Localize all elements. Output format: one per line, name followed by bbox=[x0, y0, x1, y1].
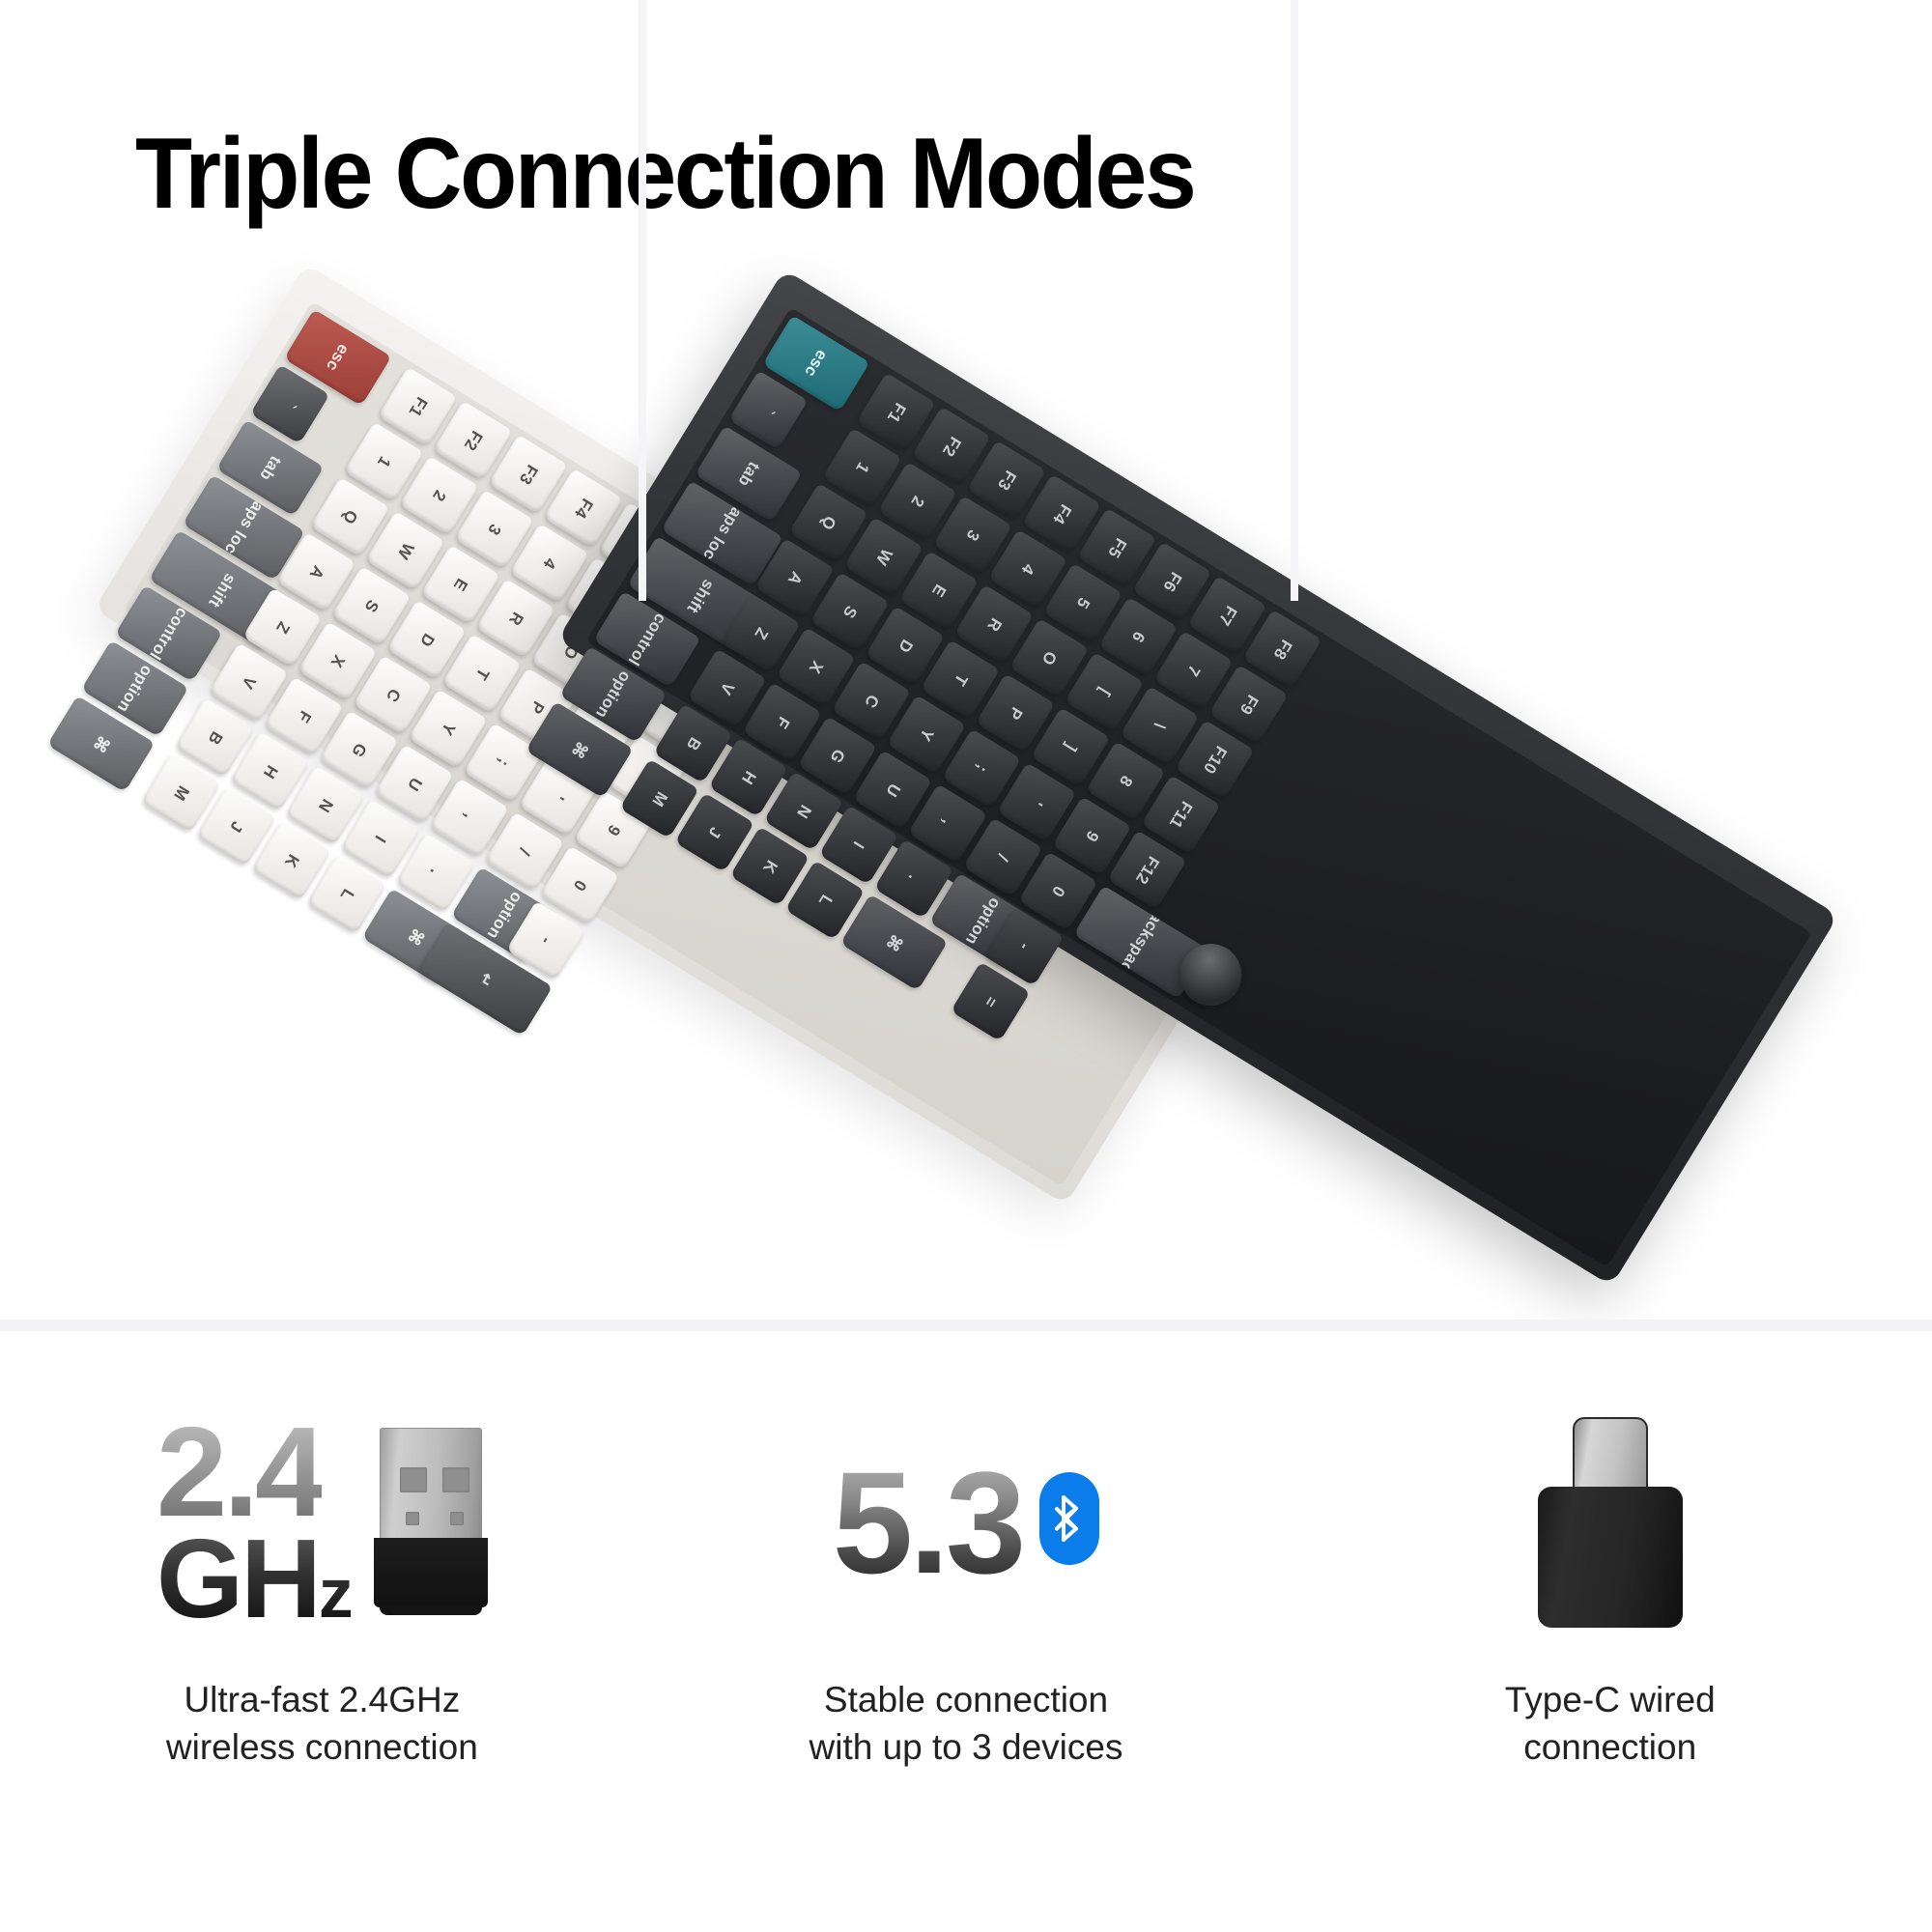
section-divider-horizontal bbox=[0, 1320, 1932, 1331]
caption-line-1: Stable connection bbox=[810, 1677, 1123, 1724]
feature-bluetooth-visual: 5.3 bbox=[833, 1378, 1100, 1667]
ghz-unit-sub: z bbox=[319, 1555, 351, 1633]
usb-dongle-metal-shell bbox=[380, 1428, 482, 1540]
type-c-metal-tip bbox=[1573, 1417, 1648, 1492]
usb-contact-slot bbox=[400, 1467, 427, 1492]
usb-contact-slot bbox=[442, 1467, 469, 1492]
caption-line-2: wireless connection bbox=[166, 1724, 478, 1772]
ghz-value-top: 2.4 bbox=[156, 1416, 323, 1528]
usb-dongle-icon bbox=[374, 1428, 488, 1617]
feature-typec-caption: Type-C wired connection bbox=[1505, 1677, 1716, 1772]
caption-line-2: connection bbox=[1505, 1724, 1716, 1772]
bluetooth-icon bbox=[1039, 1472, 1099, 1565]
feature-typec: Type-C wired connection bbox=[1288, 1331, 1932, 1932]
section-divider-vertical-1 bbox=[639, 0, 646, 601]
black-keyboard-plate: esc ` tab caps lock shift control option… bbox=[585, 307, 1811, 1267]
ghz-value-bottom: GHz bbox=[156, 1528, 351, 1629]
keyboard-hero-image: esc ` tab caps lock shift control option… bbox=[0, 241, 1932, 1323]
feature-24ghz-visual: 2.4 GHz bbox=[156, 1378, 488, 1667]
feature-typec-visual bbox=[1538, 1378, 1683, 1667]
black-keyboard: esc ` tab caps lock shift control option… bbox=[557, 270, 1839, 1286]
section-divider-vertical-2 bbox=[1291, 0, 1298, 601]
caption-line-1: Ultra-fast 2.4GHz bbox=[166, 1677, 478, 1724]
usb-dongle-body bbox=[374, 1538, 488, 1607]
usb-contact-notch bbox=[406, 1512, 419, 1525]
ghz-unit-main: GH bbox=[156, 1516, 319, 1641]
keyboard-stage: esc ` tab caps lock shift control option… bbox=[0, 241, 1932, 1323]
ghz-text-stack: 2.4 GHz bbox=[156, 1416, 351, 1630]
usb-type-c-connector-icon bbox=[1538, 1417, 1683, 1628]
type-c-housing bbox=[1538, 1487, 1683, 1628]
caption-line-1: Type-C wired bbox=[1505, 1677, 1716, 1724]
caption-line-2: with up to 3 devices bbox=[810, 1724, 1123, 1772]
page-title: Triple Connection Modes bbox=[135, 124, 1194, 224]
feature-24ghz-caption: Ultra-fast 2.4GHz wireless connection bbox=[166, 1677, 478, 1772]
usb-contact-notch bbox=[450, 1512, 464, 1525]
feature-bluetooth: 5.3 Stable connection with up to 3 devic… bbox=[644, 1331, 1289, 1932]
feature-bluetooth-caption: Stable connection with up to 3 devices bbox=[810, 1677, 1123, 1772]
bluetooth-version-value: 5.3 bbox=[833, 1454, 1023, 1592]
feature-24ghz: 2.4 GHz Ultra-fast 2.4GHz wireless conne… bbox=[0, 1331, 644, 1932]
usb-dongle-base bbox=[380, 1605, 482, 1615]
features-row: 2.4 GHz Ultra-fast 2.4GHz wireless conne… bbox=[0, 1331, 1932, 1932]
